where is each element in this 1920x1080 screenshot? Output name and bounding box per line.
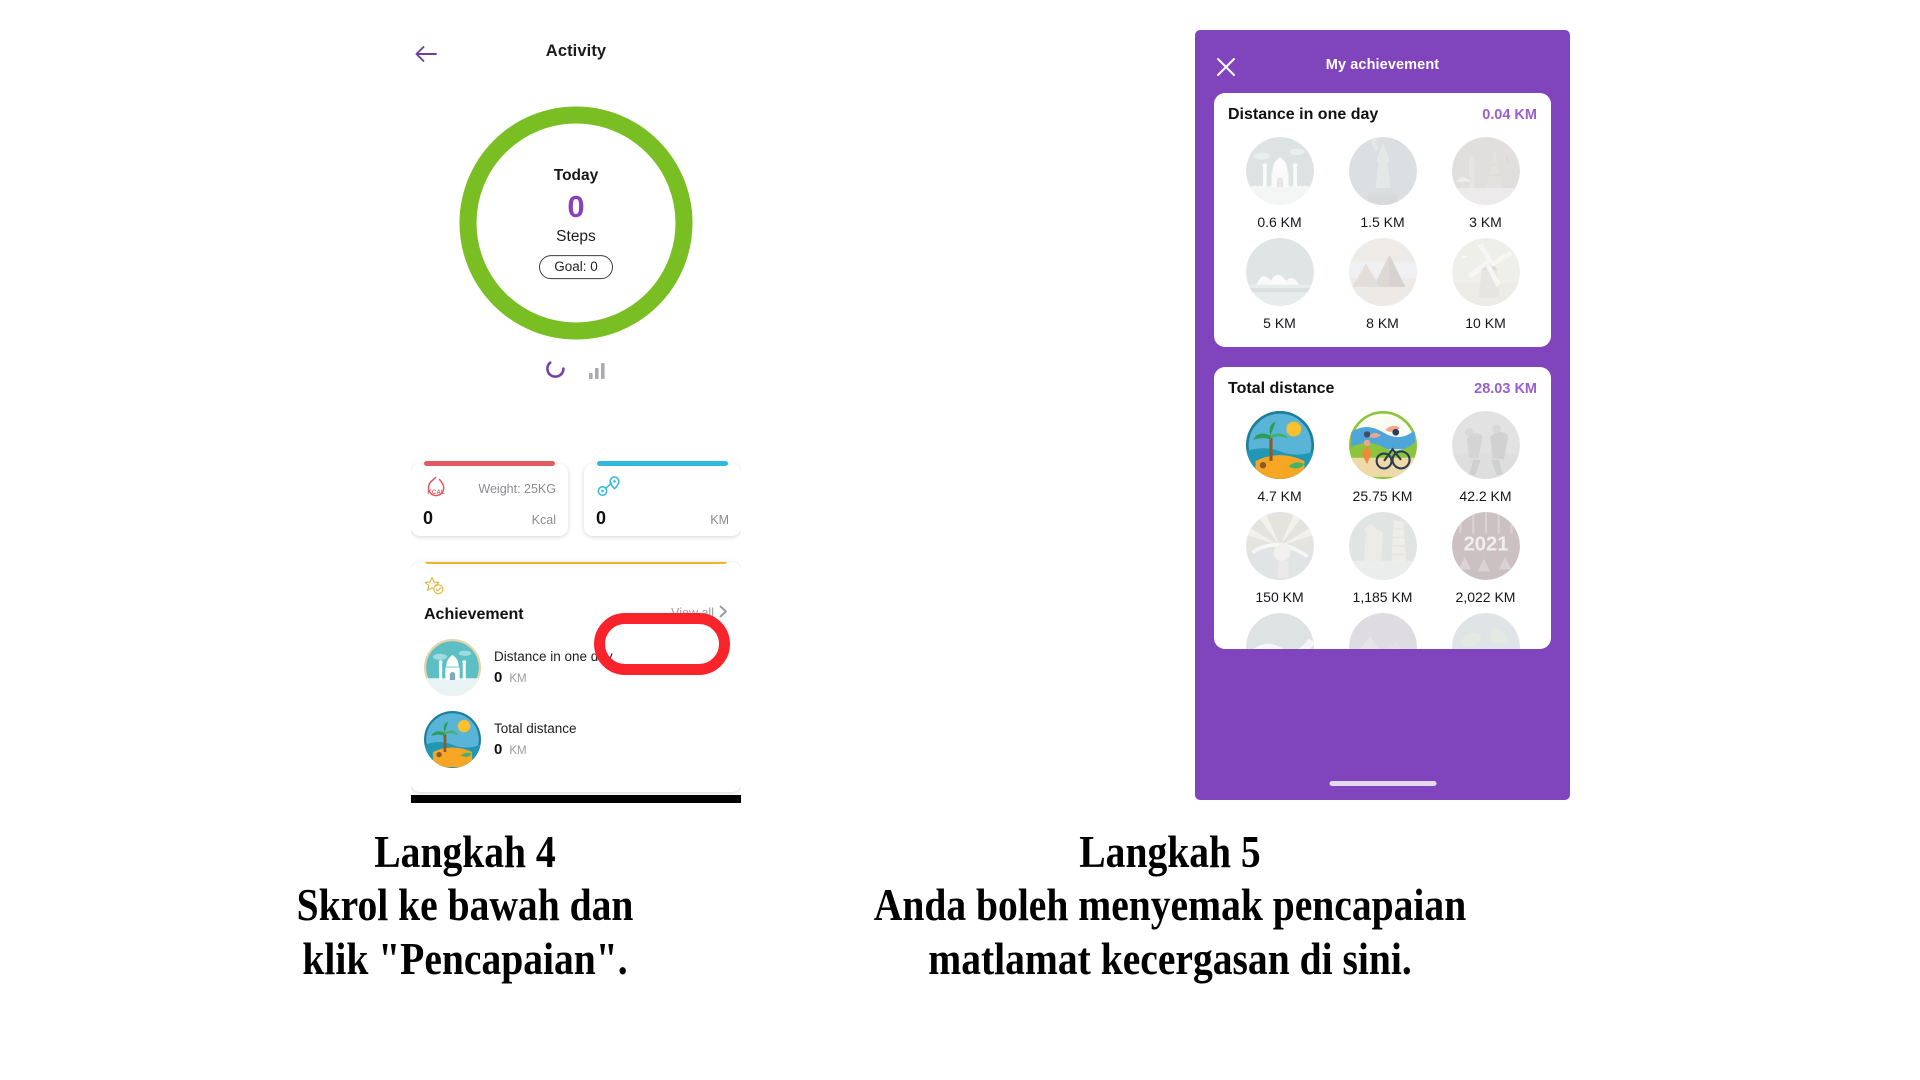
- list-item-title: Distance in one day: [494, 649, 613, 664]
- taj-mahal-badge: [1246, 137, 1314, 205]
- marathon-badge: [1452, 411, 1520, 479]
- badge-label: 1,185 KM: [1331, 589, 1434, 605]
- view-all-label: View all: [671, 606, 714, 620]
- badge-item[interactable]: [1434, 613, 1537, 649]
- badge-grid: 0.6 KM: [1228, 137, 1537, 331]
- badge-item[interactable]: 10 KM: [1434, 238, 1537, 331]
- achievement-card: Achievement View all: [411, 562, 741, 792]
- ring-today-label: Today: [453, 167, 699, 185]
- list-item[interactable]: Total distance 0 KM: [424, 711, 728, 768]
- badge-label: 25.75 KM: [1331, 488, 1434, 504]
- statue-of-liberty-badge: [1349, 137, 1417, 205]
- steps-unit-label: Steps: [453, 228, 699, 246]
- badge-label: 0.6 KM: [1228, 214, 1331, 230]
- section-title: Total distance: [1228, 380, 1334, 398]
- chevron-right-icon: [719, 605, 728, 621]
- badge-label: 1.5 KM: [1331, 214, 1434, 230]
- badge-item[interactable]: 1,185 KM: [1331, 512, 1434, 605]
- list-item-value: 0: [494, 741, 502, 758]
- achievement-sections: Distance in one day 0.04 KM: [1195, 93, 1570, 649]
- badge-item[interactable]: 0.6 KM: [1228, 137, 1331, 230]
- caption-line: Anda boleh menyemak pencapaian: [843, 878, 1497, 931]
- view-all-button[interactable]: View all: [671, 605, 728, 621]
- bridge-sunburst-badge: [1246, 512, 1314, 580]
- route-pin-icon: [596, 474, 626, 505]
- caption-line: klik "Pencapaian".: [203, 932, 728, 985]
- stat-cards: KCAL Weight: 25KG 0 Kcal: [411, 464, 741, 536]
- calories-value: 0: [423, 509, 433, 527]
- achievement-accent-bar: [425, 562, 727, 564]
- calories-unit: Kcal: [532, 513, 556, 527]
- svg-text:KCAL: KCAL: [427, 489, 444, 496]
- globe-badge: [1452, 613, 1520, 649]
- distance-card[interactable]: 0 KM: [584, 464, 741, 536]
- triathlon-badge: [1349, 411, 1417, 479]
- badge-item[interactable]: 1.5 KM: [1331, 137, 1434, 230]
- calories-accent-bar: [424, 461, 555, 466]
- section-total: 28.03 KM: [1474, 381, 1537, 397]
- badge-label: 3 KM: [1434, 214, 1537, 230]
- goal-badge: Goal: 0: [539, 255, 613, 279]
- great-wall-badge: [1246, 613, 1314, 649]
- badge-item[interactable]: 42.2 KM: [1434, 411, 1537, 504]
- badge-item[interactable]: 4.7 KM: [1228, 411, 1331, 504]
- ring-action-icons: [411, 359, 741, 386]
- my-achievement-screen: My achievement Distance in one day 0.04 …: [1195, 30, 1570, 800]
- list-item-unit: KM: [509, 745, 526, 757]
- badge-grid: 4.7 KM: [1228, 411, 1537, 649]
- caption-line: matlamat kecergasan di sini.: [843, 932, 1497, 985]
- taj-mahal-badge: [424, 639, 481, 696]
- year-2021-badge: 2021: [1452, 512, 1520, 580]
- caption-line: Langkah 5: [843, 825, 1497, 878]
- calories-card[interactable]: KCAL Weight: 25KG 0 Kcal: [411, 464, 568, 536]
- distance-value: 0: [596, 509, 606, 527]
- badge-item[interactable]: [1228, 613, 1331, 649]
- bar-chart-icon[interactable]: [589, 362, 608, 384]
- list-item-title: Total distance: [494, 721, 577, 736]
- page-title: Activity: [411, 42, 741, 61]
- badge-item[interactable]: 25.75 KM: [1331, 411, 1434, 504]
- activity-screen: Activity Today 0 Steps Goal: 0: [411, 28, 741, 813]
- badge-label: 5 KM: [1228, 315, 1331, 331]
- section-distance-in-one-day: Distance in one day 0.04 KM: [1214, 93, 1551, 347]
- home-indicator-bar: [1329, 781, 1436, 786]
- badge-label: 42.2 KM: [1434, 488, 1537, 504]
- caption-line: Skrol ke bawah dan: [203, 878, 728, 931]
- pisa-tower-badge: [1349, 512, 1417, 580]
- achievement-title: Achievement: [424, 606, 524, 624]
- section-title: Distance in one day: [1228, 106, 1378, 124]
- star-check-icon: [424, 584, 446, 601]
- badge-item[interactable]: 2021 2,022 KM: [1434, 512, 1537, 605]
- distance-unit: KM: [710, 513, 729, 527]
- screenshot-crop-bar: [411, 795, 741, 803]
- weight-label: Weight: 25KG: [478, 482, 556, 496]
- badge-label: 2,022 KM: [1434, 589, 1537, 605]
- tutorial-slide: Activity Today 0 Steps Goal: 0: [0, 0, 1920, 1080]
- caption-step-5: Langkah 5 Anda boleh menyemak pencapaian…: [790, 825, 1550, 985]
- caption-step-4: Langkah 4 Skrol ke bawah dan klik "Penca…: [160, 825, 770, 985]
- badge-item[interactable]: 150 KM: [1228, 512, 1331, 605]
- windmill-badge: [1452, 238, 1520, 306]
- badge-item[interactable]: 8 KM: [1331, 238, 1434, 331]
- beach-island-badge: [1246, 411, 1314, 479]
- list-item[interactable]: Distance in one day 0 KM: [424, 639, 728, 696]
- mountain-badge: [1349, 613, 1417, 649]
- beach-island-badge: [424, 711, 481, 768]
- svg-text:2021: 2021: [1463, 533, 1508, 555]
- pyramids-badge: [1349, 238, 1417, 306]
- activity-header: Activity: [411, 28, 741, 80]
- badge-item[interactable]: 3 KM: [1434, 137, 1537, 230]
- achievement-header: My achievement: [1195, 30, 1570, 93]
- list-item-value: 0: [494, 669, 502, 686]
- eiffel-tower-badge: [1452, 137, 1520, 205]
- badge-item[interactable]: 5 KM: [1228, 238, 1331, 331]
- refresh-spinner-icon[interactable]: [545, 359, 567, 386]
- list-item-unit: KM: [509, 673, 526, 685]
- caption-line: Langkah 4: [203, 825, 728, 878]
- badge-label: 8 KM: [1331, 315, 1434, 331]
- section-total: 0.04 KM: [1482, 107, 1537, 123]
- achievement-page-title: My achievement: [1195, 57, 1570, 73]
- badge-label: 150 KM: [1228, 589, 1331, 605]
- steps-value: 0: [453, 189, 699, 225]
- badge-label: 10 KM: [1434, 315, 1537, 331]
- section-total-distance: Total distance 28.03 KM: [1214, 367, 1551, 649]
- steps-progress-ring: Today 0 Steps Goal: 0: [453, 100, 699, 346]
- badge-label: 4.7 KM: [1228, 488, 1331, 504]
- kcal-icon: KCAL: [423, 474, 450, 505]
- badge-item[interactable]: [1331, 613, 1434, 649]
- distance-accent-bar: [597, 461, 728, 466]
- sydney-opera-badge: [1246, 238, 1314, 306]
